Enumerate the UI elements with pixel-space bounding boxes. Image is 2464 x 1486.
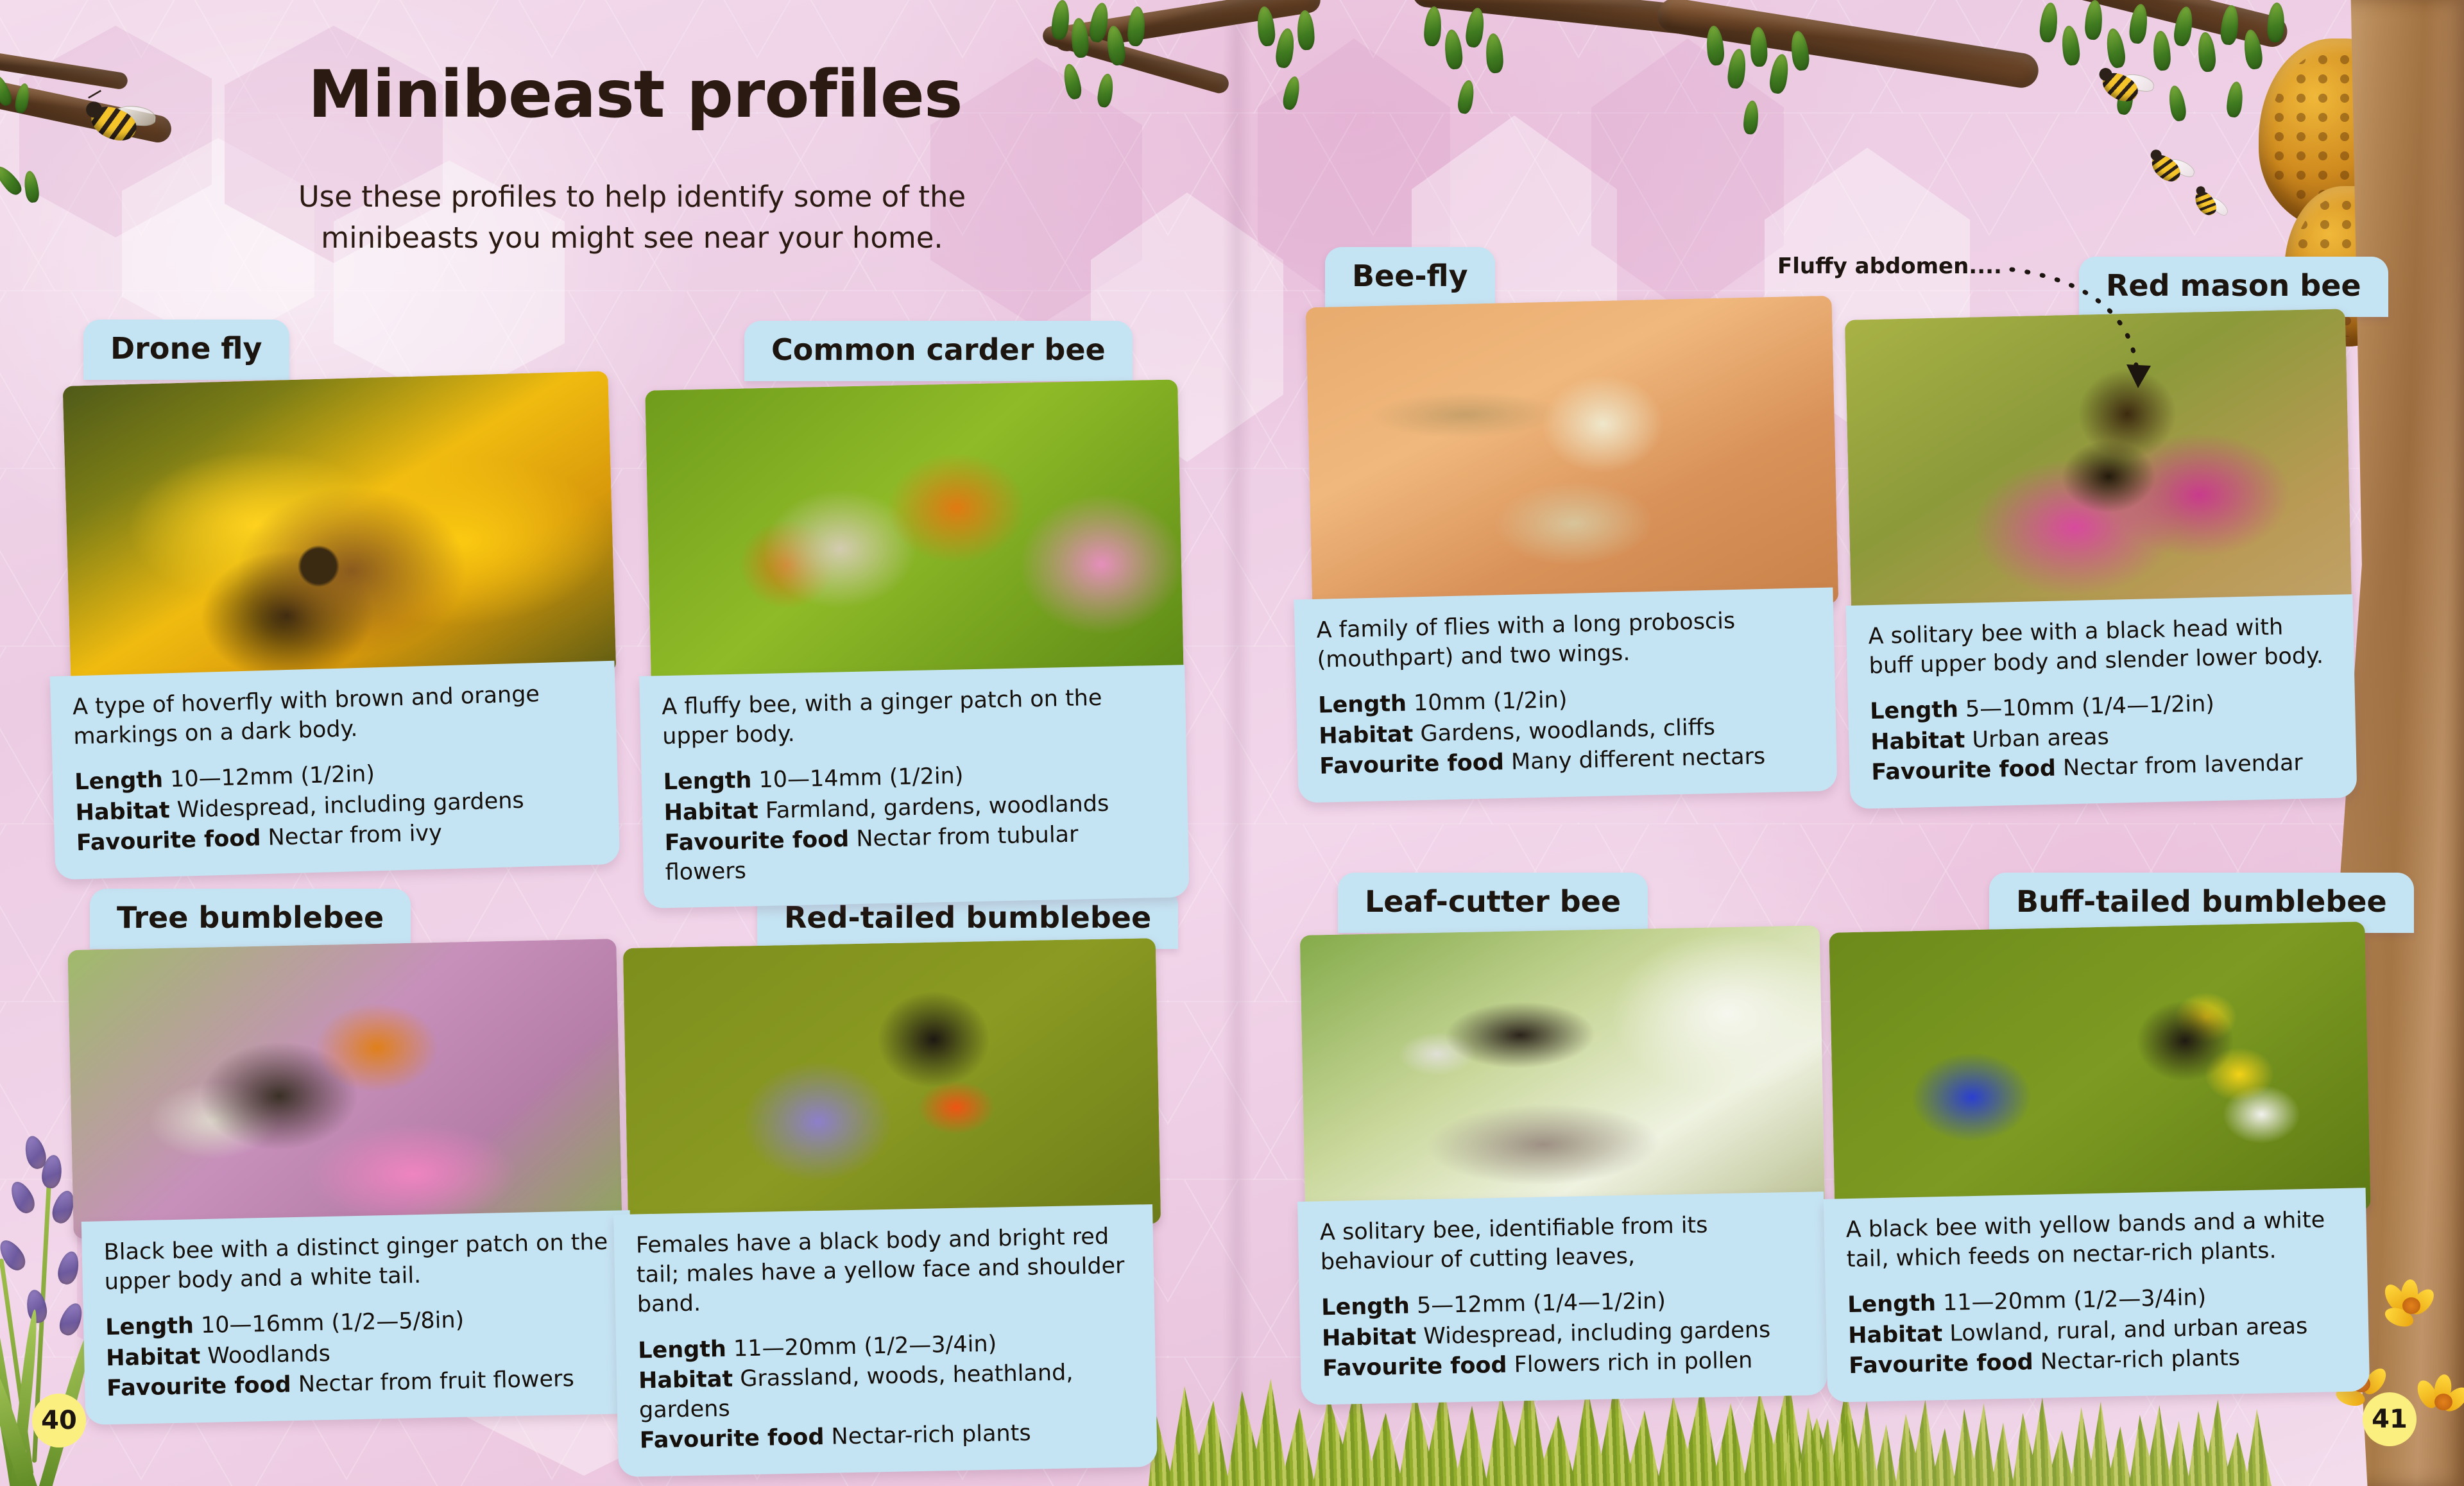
card-title-tab: Leaf-cutter bee — [1338, 873, 1648, 933]
profile-description: A black bee with yellow bands and a whit… — [1845, 1205, 2345, 1275]
card-title-tab: Common carder bee — [744, 321, 1133, 381]
food-value: Nectar from ivy — [268, 821, 442, 851]
length-value: 10—12mm (1/2in) — [170, 762, 375, 793]
profile-description: A fluffy bee, with a ginger patch on the… — [662, 682, 1165, 752]
callout-label: Fluffy abdomen.... — [1777, 253, 2002, 279]
profile-description: A solitary bee with a black head with bu… — [1868, 611, 2332, 681]
profile-body: Black bee with a distinct ginger patch o… — [81, 1210, 634, 1425]
food-label: Favourite food — [76, 826, 261, 857]
food-value: Nectar from lavendar — [2063, 750, 2304, 781]
food-value: Many different nectars — [1511, 744, 1766, 775]
intro-text: Use these profiles to help identify some… — [253, 176, 1011, 259]
length-value: 10mm (1/2in) — [1414, 687, 1568, 716]
food-label: Favourite food — [1322, 1353, 1507, 1382]
card-title-tab: Tree bumblebee — [90, 889, 411, 949]
length-label: Length — [1870, 697, 1959, 724]
profile-body: A family of flies with a long proboscis … — [1294, 588, 1838, 803]
habitat-label: Habitat — [1870, 728, 1965, 755]
profile-photo — [1829, 921, 2370, 1221]
callout-arrow-icon — [2008, 257, 2175, 404]
profile-photo — [645, 379, 1183, 685]
length-label: Length — [1318, 691, 1407, 719]
profile-description: Black bee with a distinct ginger patch o… — [103, 1227, 610, 1297]
profile-body: A solitary bee with a black head with bu… — [1846, 594, 2357, 809]
profile-facts: Length 5—12mm (1/4—1/2in) Habitat Widesp… — [1321, 1285, 1806, 1384]
profile-facts: Length 10—12mm (1/2in) Habitat Widesprea… — [74, 754, 598, 858]
profile-facts: Length 10mm (1/2in) Habitat Gardens, woo… — [1318, 681, 1815, 782]
habitat-value: Woodlands — [207, 1341, 330, 1369]
food-value: Flowers rich in pollen — [1514, 1348, 1752, 1378]
habitat-value: Lowland, rural, and urban areas — [1949, 1313, 2308, 1347]
habitat-value: Gardens, woodlands, cliffs — [1420, 715, 1715, 747]
habitat-label: Habitat — [75, 798, 170, 826]
page-title: Minibeast profiles — [308, 56, 963, 133]
profile-photo — [1306, 296, 1839, 615]
habitat-label: Habitat — [638, 1367, 733, 1394]
habitat-label: Habitat — [1848, 1321, 1943, 1349]
food-value: Nectar-rich plants — [831, 1421, 1031, 1450]
book-spine-shadow — [1222, 0, 1252, 1486]
profile-facts: Length 11—20mm (1/2—3/4in) Habitat Lowla… — [1847, 1281, 2348, 1381]
profile-photo — [623, 938, 1161, 1234]
card-title-tab: Bee-fly — [1325, 247, 1495, 307]
habitat-label: Habitat — [1322, 1324, 1417, 1351]
profile-body: A solitary bee, identifiable from its be… — [1297, 1191, 1827, 1405]
profile-facts: Length 11—20mm (1/2—3/4in) Habitat Grass… — [638, 1327, 1135, 1456]
profile-photo — [63, 371, 617, 688]
food-label: Favourite food — [664, 827, 849, 857]
habitat-label: Habitat — [663, 798, 758, 826]
profile-body: A black bee with yellow bands and a whit… — [1824, 1188, 2370, 1403]
food-label: Favourite food — [1849, 1349, 2033, 1379]
length-label: Length — [1321, 1294, 1410, 1321]
food-label: Favourite food — [1871, 756, 2056, 786]
length-value: 11—20mm (1/2—3/4in) — [733, 1331, 997, 1362]
profile-body: Females have a black body and bright red… — [613, 1204, 1158, 1477]
length-label: Length — [74, 767, 164, 796]
page-number-right: 41 — [2363, 1392, 2417, 1446]
length-label: Length — [638, 1336, 726, 1363]
profile-description: A type of hoverfly with brown and orange… — [72, 678, 594, 752]
profile-facts: Length 5—10mm (1/4—1/2in) Habitat Urban … — [1870, 687, 2335, 788]
profile-description: Females have a black body and bright red… — [636, 1222, 1133, 1320]
profile-facts: Length 10—14mm (1/2in) Habitat Farmland,… — [663, 758, 1167, 887]
length-value: 10—14mm (1/2in) — [758, 764, 964, 794]
profile-body: A type of hoverfly with brown and orange… — [50, 661, 620, 880]
habitat-value: Farmland, gardens, woodlands — [766, 791, 1109, 824]
profile-facts: Length 10—16mm (1/2—5/8in) Habitat Woodl… — [105, 1303, 612, 1404]
length-value: 11—20mm (1/2—3/4in) — [1943, 1285, 2207, 1317]
food-label: Favourite food — [107, 1372, 291, 1402]
page-number-left: 40 — [32, 1394, 86, 1448]
profile-body: A fluffy bee, with a ginger patch on the… — [639, 665, 1189, 909]
food-value: Nectar from fruit flowers — [298, 1366, 574, 1397]
habitat-label: Habitat — [106, 1344, 201, 1371]
length-label: Length — [1847, 1291, 1936, 1319]
profile-photo — [1300, 925, 1825, 1224]
length-value: 5—12mm (1/4—1/2in) — [1417, 1288, 1666, 1319]
habitat-value: Widespread, including gardens — [1423, 1317, 1771, 1349]
length-value: 5—10mm (1/4—1/2in) — [1965, 691, 2215, 722]
food-value: Nectar-rich plants — [2040, 1345, 2240, 1376]
habitat-label: Habitat — [1319, 721, 1414, 749]
card-title-tab: Drone fly — [83, 320, 289, 380]
profile-photo — [67, 939, 622, 1239]
length-value: 10—16mm (1/2—5/8in) — [201, 1308, 465, 1339]
book-spread: Minibeast profiles Use these profiles to… — [0, 0, 2464, 1486]
food-label: Favourite food — [640, 1424, 825, 1454]
length-label: Length — [663, 768, 751, 796]
profile-description: A family of flies with a long proboscis … — [1316, 604, 1813, 675]
length-label: Length — [105, 1313, 194, 1341]
profile-description: A solitary bee, identifiable from its be… — [1320, 1209, 1804, 1277]
habitat-value: Urban areas — [1972, 724, 2109, 753]
food-label: Favourite food — [1319, 750, 1504, 780]
